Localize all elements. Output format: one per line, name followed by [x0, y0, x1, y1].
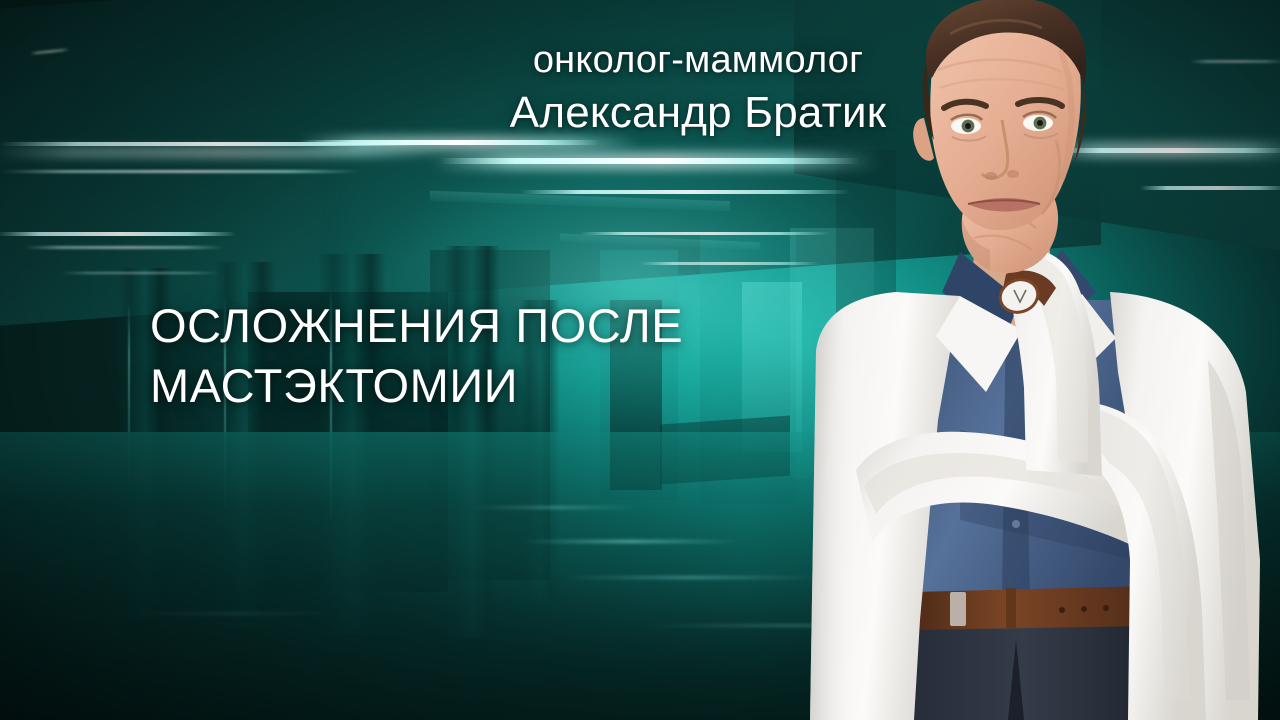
- belt-hole-2: [1081, 606, 1087, 612]
- presenter-role: онколог-маммолог: [478, 36, 918, 84]
- nostril-left: [985, 172, 997, 180]
- belt: [912, 586, 1152, 630]
- pupil-left: [965, 123, 971, 129]
- presenter-name-block: онколог-маммолог Александр Братик: [478, 36, 918, 140]
- video-title-line-1: ОСЛОЖНЕНИЯ ПОСЛЕ: [150, 296, 810, 356]
- pupil-right: [1037, 120, 1043, 126]
- thumbnail-stage: онколог-маммолог Александр Братик ОСЛОЖН…: [0, 0, 1280, 720]
- video-title-line-2: МАСТЭКТОМИИ: [150, 356, 810, 416]
- belt-buckle: [950, 592, 966, 626]
- belt-hole-3: [1103, 605, 1109, 611]
- belt-hole-1: [1059, 607, 1065, 613]
- nostril-right: [1007, 170, 1019, 178]
- presenter-name: Александр Братик: [478, 86, 918, 140]
- belt-keeper: [1006, 588, 1016, 628]
- video-title-block: ОСЛОЖНЕНИЯ ПОСЛЕ МАСТЭКТОМИИ: [150, 296, 810, 416]
